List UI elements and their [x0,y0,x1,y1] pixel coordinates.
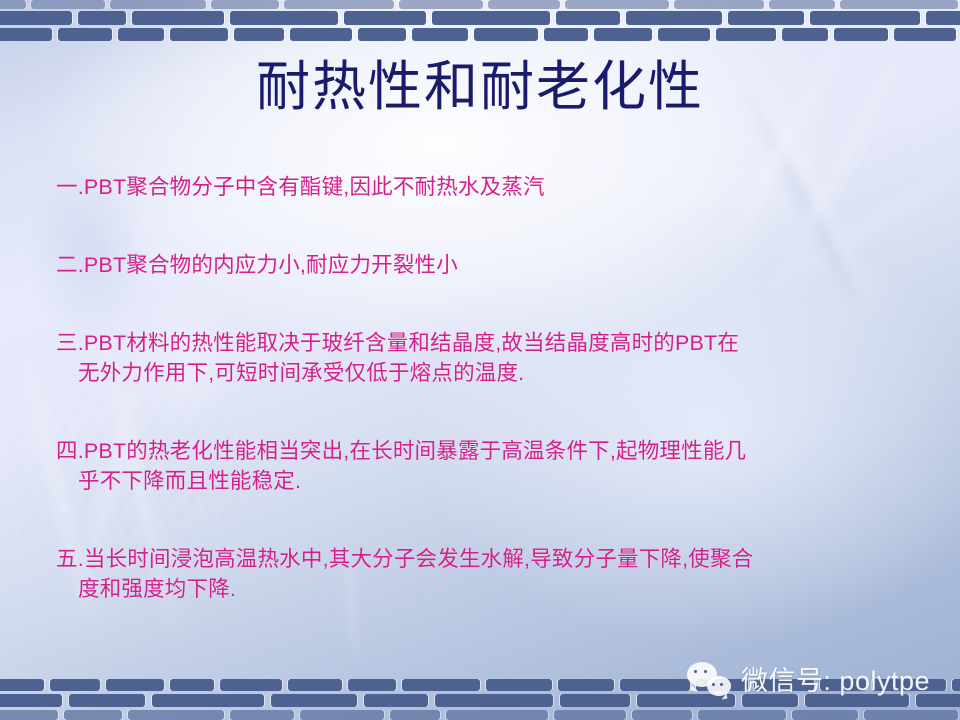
list-item: 一.PBT聚合物分子中含有酯键,因此不耐热水及蒸汽 [56,172,920,202]
brick [0,710,58,720]
brick [64,710,122,720]
brick [556,11,620,25]
wechat-icon [687,662,731,696]
brick [792,710,858,720]
brick [0,679,44,691]
brick [544,28,588,41]
list-item-line2: 乎不下降而且性能稳定. [78,466,920,496]
brick [674,0,764,9]
brick [594,28,652,41]
brick [0,694,62,707]
brick [698,710,786,720]
brick [486,679,552,691]
brick [432,11,550,25]
brick [288,679,342,691]
brick [234,28,284,41]
brick-row-2 [0,11,960,25]
brick [152,694,264,707]
brick [716,28,776,41]
list-item-line1: 五.当长时间浸泡高温热水中,其大分子会发生水解,导致分子量下降,使聚合 [56,547,753,571]
brick [58,28,112,41]
brick [230,11,338,25]
brick [364,694,428,707]
slide-body-list: 一.PBT聚合物分子中含有酯键,因此不耐热水及蒸汽 二.PBT聚合物的内应力小,… [56,172,920,652]
brick [290,28,352,41]
list-item-line1: 三.PBT材料的热性能取决于玻纤含量和结晶度,故当结晶度高时的PBT在 [56,331,739,355]
brick [894,28,956,41]
brick [560,694,630,707]
top-brick-border [0,0,960,41]
brick [132,11,224,25]
brick [558,679,614,691]
list-item: 二.PBT聚合物的内应力小,耐应力开裂性小 [56,250,920,280]
slide-canvas: 耐热性和耐老化性 一.PBT聚合物分子中含有酯键,因此不耐热水及蒸汽 二.PBT… [0,0,960,720]
brick [170,679,214,691]
brick [69,694,145,707]
brick [399,0,483,9]
brick [840,0,958,9]
list-item-line1: 四.PBT的热老化性能相当突出,在长时间暴露于高温条件下,起物理性能几 [56,439,746,463]
brick [348,679,396,691]
brick [620,679,690,691]
brick [106,679,164,691]
brick [390,710,440,720]
brick-row-3 [0,710,960,720]
brick [0,0,26,9]
brick [632,710,692,720]
brick [626,11,722,25]
list-item: 四.PBT的热老化性能相当突出,在长时间暴露于高温条件下,起物理性能几 乎不下降… [56,436,920,496]
brick [864,710,958,720]
list-item: 三.PBT材料的热性能取决于玻纤含量和结晶度,故当结晶度高时的PBT在 无外力作… [56,328,920,388]
brick [769,0,835,9]
list-item-line2: 无外力作用下,可短时间承受仅低于熔点的温度. [78,358,920,388]
brick [300,710,384,720]
list-item-line1: 二.PBT聚合物的内应力小,耐应力开裂性小 [56,253,458,277]
brick [118,28,164,41]
brick [284,0,394,9]
watermark: 微信号: polytpe [687,659,930,698]
watermark-text: 微信号: polytpe [741,659,930,698]
brick [446,710,548,720]
brick [658,28,710,41]
wechat-bubble-small [707,676,731,696]
brick [31,0,105,9]
brick [344,11,426,25]
brick [412,28,468,41]
brick [0,11,72,25]
brick [170,28,228,41]
brick [810,11,920,25]
brick [474,28,538,41]
wechat-eye [720,683,723,686]
brick [926,11,960,25]
brick [402,679,480,691]
brick [110,0,206,9]
brick [728,11,804,25]
brick [488,0,560,9]
list-item-line1: 一.PBT聚合物分子中含有酯键,因此不耐热水及蒸汽 [56,175,545,199]
brick [554,710,626,720]
brick [78,11,126,25]
brick-row-3 [0,28,960,41]
brick [230,710,294,720]
brick [782,28,828,41]
brick [220,679,282,691]
brick [128,710,224,720]
brick [952,679,960,691]
brick [211,0,279,9]
brick [834,28,888,41]
list-item-line2: 度和强度均下降. [78,574,920,604]
wechat-eye [712,683,715,686]
slide-title: 耐热性和耐老化性 [0,58,960,117]
list-item: 五.当长时间浸泡高温热水中,其大分子会发生水解,导致分子量下降,使聚合 度和强度… [56,544,920,604]
brick [435,694,553,707]
brick [0,28,52,41]
brick [358,28,406,41]
brick-row-1 [0,0,960,9]
brick [565,0,669,9]
brick [50,679,100,691]
brick [271,694,357,707]
